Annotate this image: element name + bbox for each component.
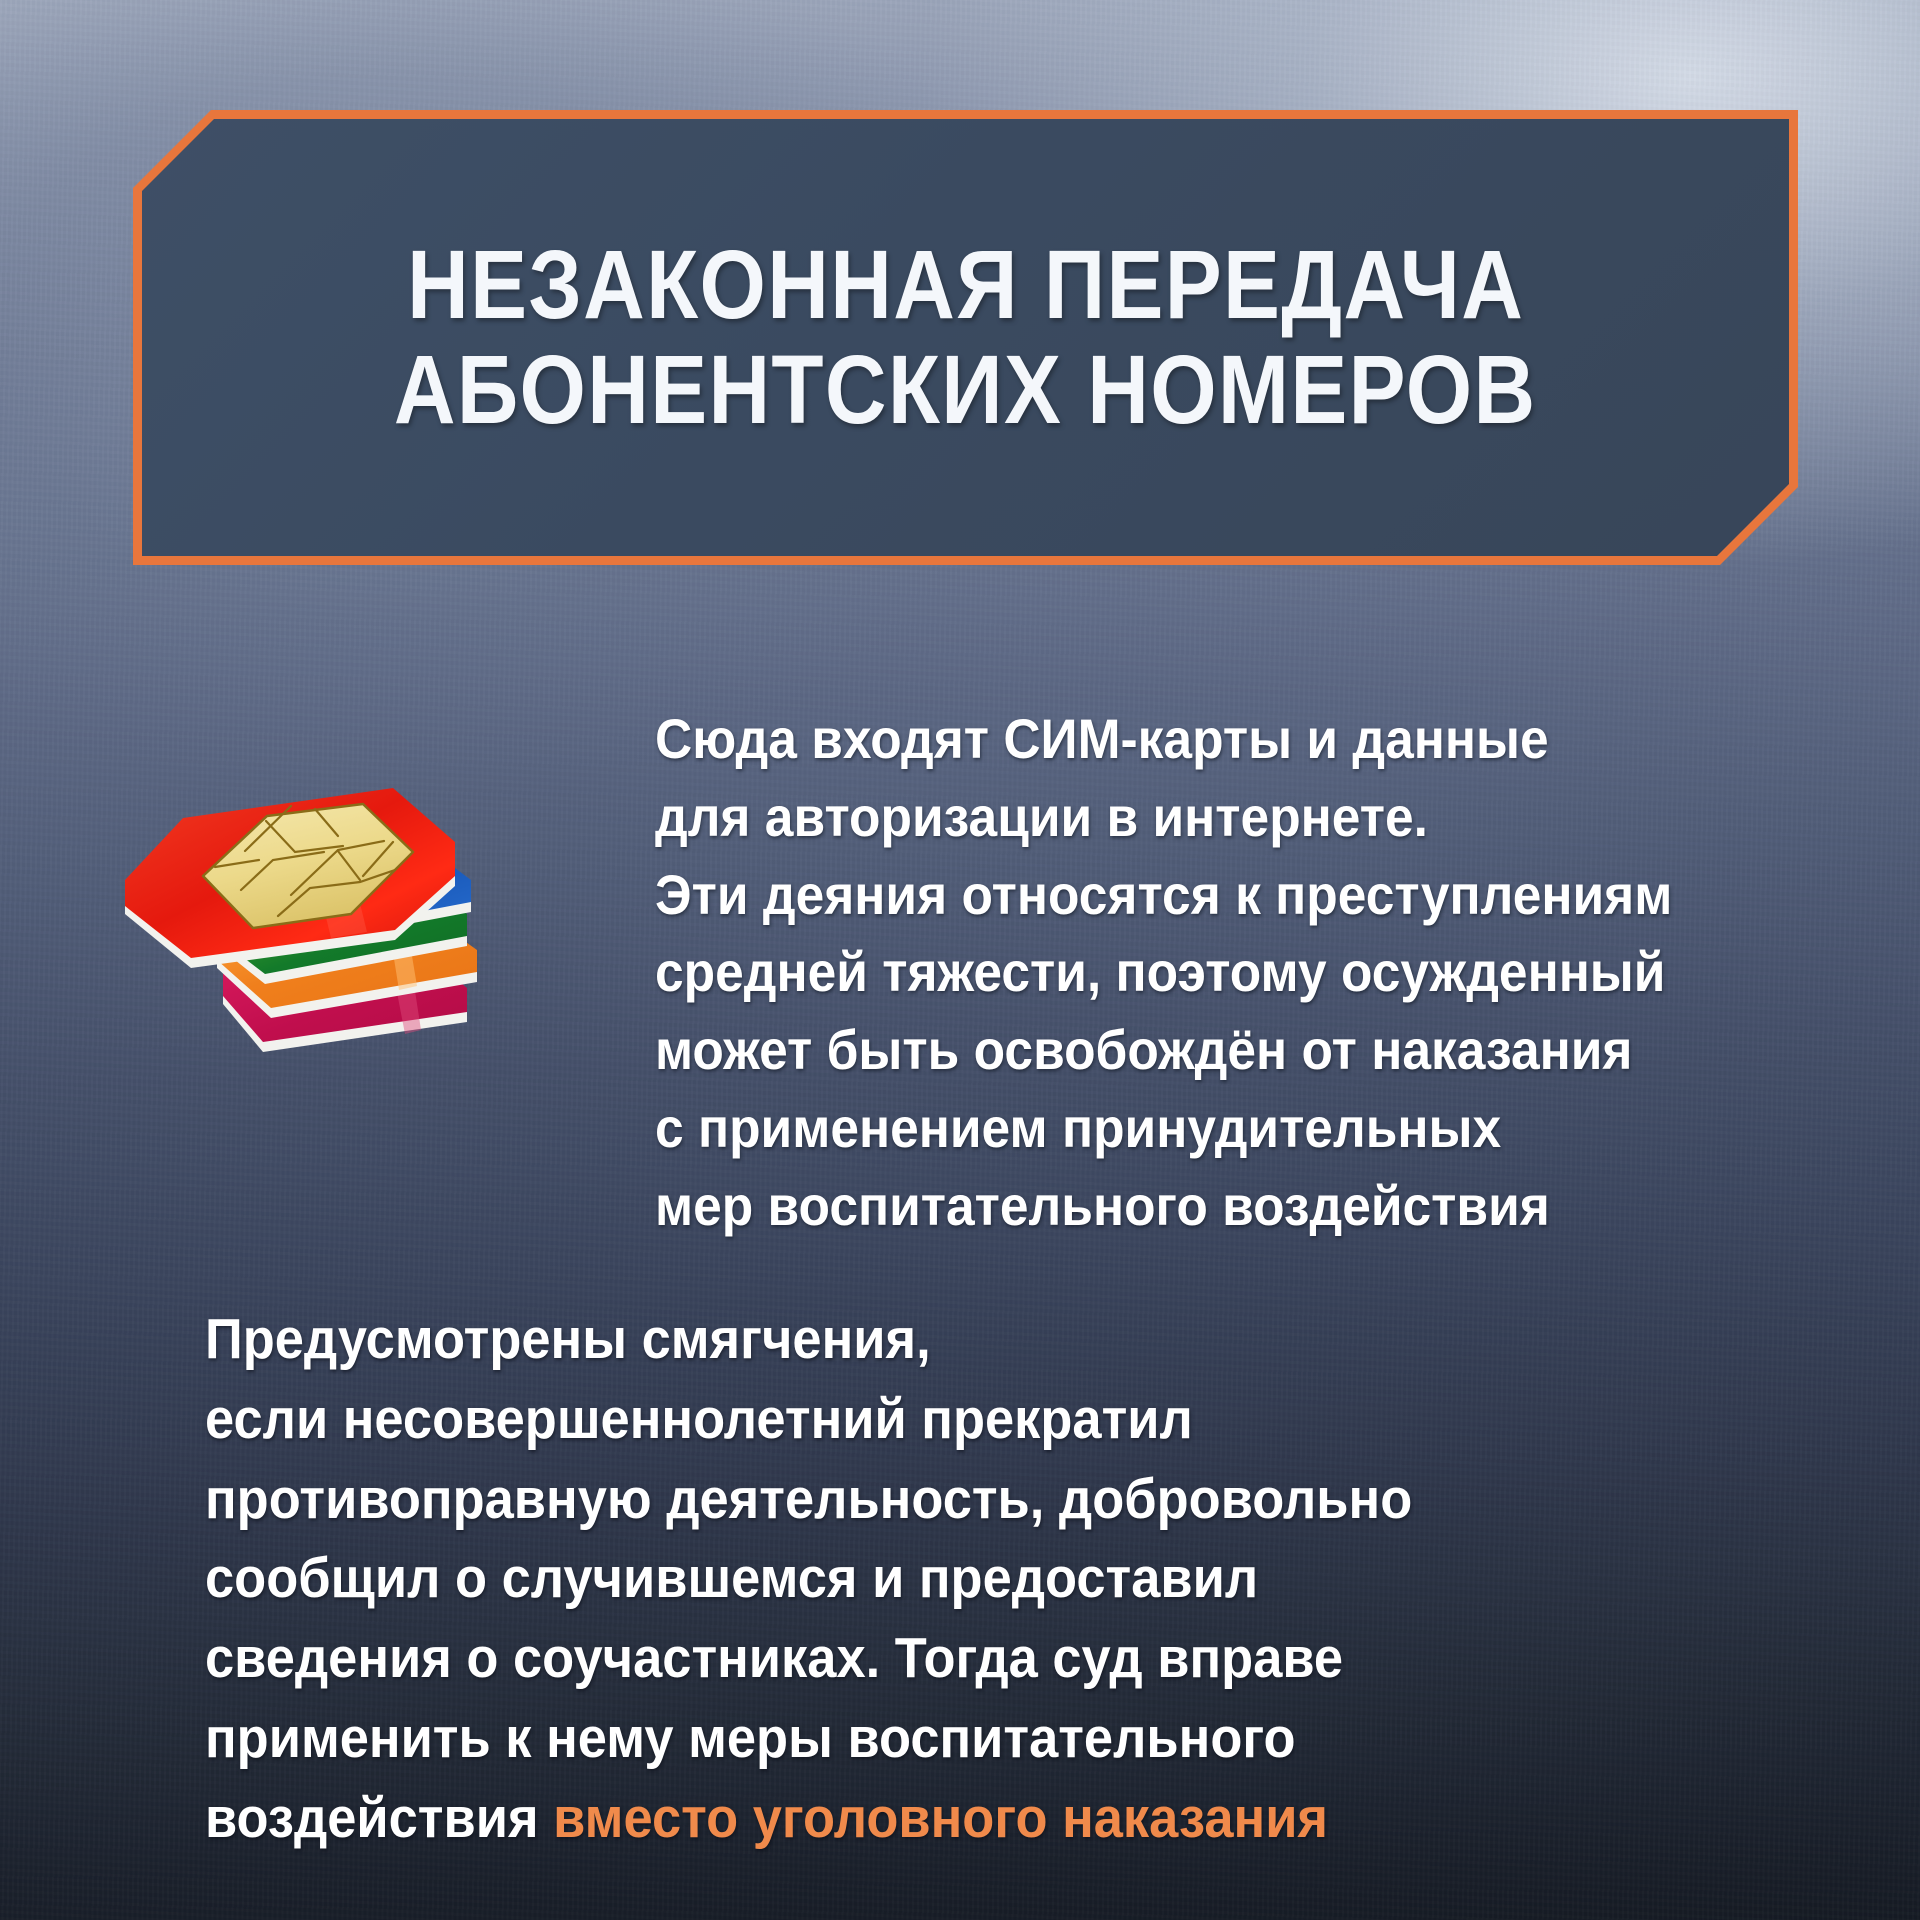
- body-line-4: средней тяжести, поэтому осужденный: [655, 933, 1787, 1011]
- title-plaque: НЕЗАКОННАЯ ПЕРЕДАЧА АБОНЕНТСКИХ НОМЕРОВ: [133, 110, 1798, 565]
- sim-card-stack-icon: [95, 700, 515, 1100]
- sim-card-stack-illustration: [95, 700, 515, 1100]
- title-line-2: АБОНЕНТСКИХ НОМЕРОВ: [394, 338, 1537, 443]
- mitigation-line-6: воздействия вместо уголовного наказания: [205, 1779, 1585, 1859]
- body-line-2: для авторизации в интернете.: [655, 778, 1787, 856]
- mitigation-last-prefix: воздействия: [205, 1786, 553, 1850]
- body-line-1: Сюда входят СИМ-карты и данные: [655, 700, 1787, 778]
- body-line-6: с применением принудительных: [655, 1089, 1787, 1167]
- title-plaque-body: НЕЗАКОННАЯ ПЕРЕДАЧА АБОНЕНТСКИХ НОМЕРОВ: [142, 119, 1789, 556]
- mitigation-last-accent: вместо уголовного наказания: [553, 1786, 1328, 1850]
- poster-canvas: НЕЗАКОННАЯ ПЕРЕДАЧА АБОНЕНТСКИХ НОМЕРОВ: [0, 0, 1920, 1920]
- mitigation-heading: Предусмотрены смягчения,: [205, 1300, 1585, 1380]
- body-line-7: мер воспитательного воздействия: [655, 1167, 1787, 1245]
- mitigation-line-4: сведения о соучастниках. Тогда суд вправ…: [205, 1619, 1585, 1699]
- mitigation-section: Предусмотрены смягчения, если несовершен…: [205, 1300, 1705, 1859]
- body-line-5: может быть освобождён от наказания: [655, 1011, 1787, 1089]
- mitigation-line-5: применить к нему меры воспитательного: [205, 1699, 1585, 1779]
- body-paragraph: Сюда входят СИМ-карты и данные для автор…: [655, 700, 1885, 1245]
- body-line-3: Эти деяния относятся к преступлениям: [655, 856, 1787, 934]
- mitigation-line-1: если несовершеннолетний прекратил: [205, 1380, 1585, 1460]
- mitigation-line-2: противоправную деятельность, добровольно: [205, 1460, 1585, 1540]
- mitigation-line-3: сообщил о случившемся и предоставил: [205, 1539, 1585, 1619]
- title-line-1: НЕЗАКОННАЯ ПЕРЕДАЧА: [407, 233, 1524, 338]
